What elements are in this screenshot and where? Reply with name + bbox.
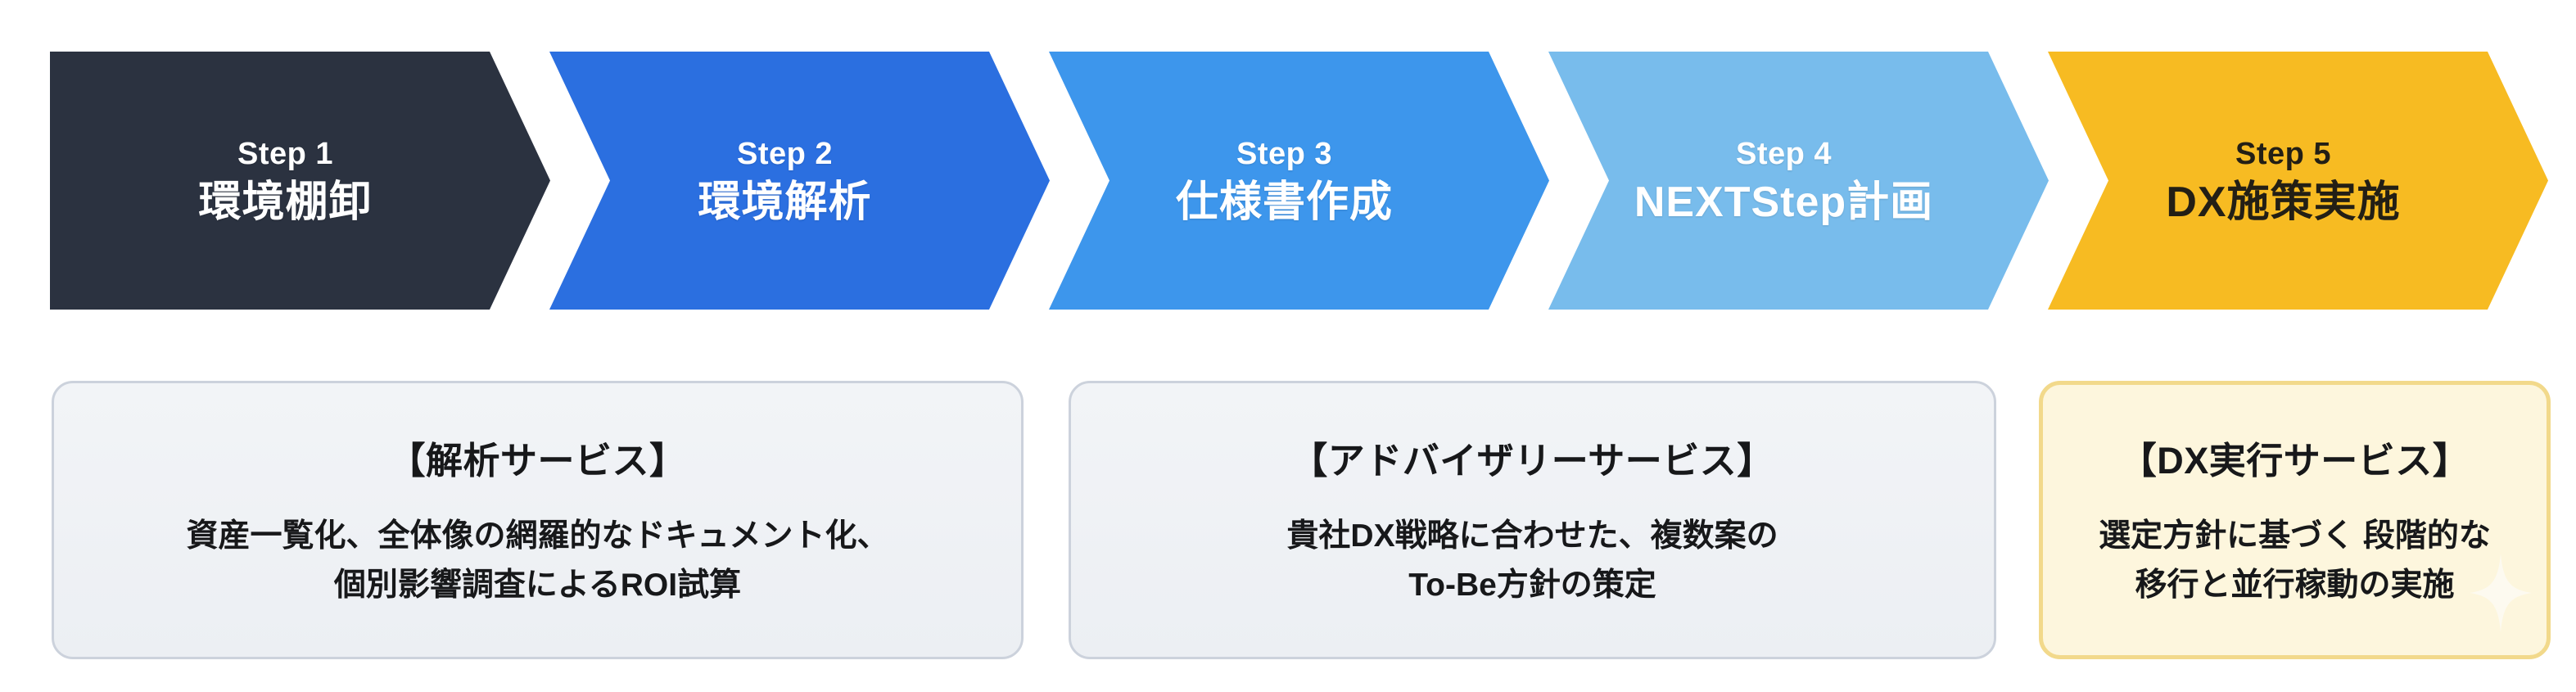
step-5-content: Step 5 DX施策実施 <box>2166 138 2400 224</box>
step-chevron-1[interactable]: Step 1 環境棚卸 <box>50 52 550 310</box>
step-4-title: NEXTStep計画 <box>1634 181 1933 224</box>
step-chevron-5[interactable]: Step 5 DX施策実施 <box>2048 52 2548 310</box>
step-chevron-2[interactable]: Step 2 環境解析 <box>549 52 1050 310</box>
step-1-title: 環境棚卸 <box>198 181 372 224</box>
service-card-analysis-title: 【解析サービス】 <box>388 431 686 484</box>
service-card-dx-execution-line-2: 移行と並行稼動の実施 <box>2099 561 2491 609</box>
step-2-content: Step 2 環境解析 <box>698 138 871 224</box>
service-card-advisory-line-2: To-Be方針の策定 <box>1286 561 1778 609</box>
service-card-analysis-line-1: 資産一覧化、全体像の網羅的なドキュメント化、 <box>186 512 888 560</box>
service-card-row: 【解析サービス】 資産一覧化、全体像の網羅的なドキュメント化、 個別影響調査によ… <box>0 381 2576 659</box>
service-card-dx-execution-line-1: 選定方針に基づく 段階的な <box>2099 512 2491 560</box>
service-card-dx-execution-body: 選定方針に基づく 段階的な 移行と並行稼動の実施 <box>2087 512 2502 609</box>
step-chevron-3[interactable]: Step 3 仕様書作成 <box>1049 52 1549 310</box>
step-1-label: Step 1 <box>237 138 333 170</box>
service-card-analysis[interactable]: 【解析サービス】 資産一覧化、全体像の網羅的なドキュメント化、 個別影響調査によ… <box>52 381 1024 659</box>
service-card-dx-execution-title: 【DX実行サービス】 <box>2120 431 2470 484</box>
step-4-content: Step 4 NEXTStep計画 <box>1634 138 1933 224</box>
step-flow-diagram: Step 1 環境棚卸 Step 2 環境解析 Step 3 仕様書作成 Ste… <box>0 0 2576 692</box>
step-chevron-4[interactable]: Step 4 NEXTStep計画 <box>1548 52 2049 310</box>
step-2-label: Step 2 <box>737 138 833 170</box>
step-3-label: Step 3 <box>1236 138 1332 170</box>
step-3-content: Step 3 仕様書作成 <box>1176 138 1393 224</box>
step-1-content: Step 1 環境棚卸 <box>198 138 372 224</box>
service-card-advisory-title: 【アドバイザリーサービス】 <box>1290 431 1774 484</box>
service-card-advisory-line-1: 貴社DX戦略に合わせた、複数案の <box>1286 512 1778 560</box>
service-card-advisory[interactable]: 【アドバイザリーサービス】 貴社DX戦略に合わせた、複数案の To-Be方針の策… <box>1069 381 1996 659</box>
step-3-title: 仕様書作成 <box>1176 181 1393 224</box>
step-5-label: Step 5 <box>2235 138 2331 170</box>
step-chevron-row: Step 1 環境棚卸 Step 2 環境解析 Step 3 仕様書作成 Ste… <box>0 52 2576 310</box>
step-4-label: Step 4 <box>1736 138 1832 170</box>
service-card-analysis-line-2: 個別影響調査によるROI試算 <box>186 561 888 609</box>
service-card-advisory-body: 貴社DX戦略に合わせた、複数案の To-Be方針の策定 <box>1275 512 1789 609</box>
step-2-title: 環境解析 <box>698 181 871 224</box>
service-card-analysis-body: 資産一覧化、全体像の網羅的なドキュメント化、 個別影響調査によるROI試算 <box>174 512 900 609</box>
service-card-dx-execution[interactable]: 【DX実行サービス】 選定方針に基づく 段階的な 移行と並行稼動の実施 <box>2039 381 2551 659</box>
step-5-title: DX施策実施 <box>2166 181 2400 224</box>
